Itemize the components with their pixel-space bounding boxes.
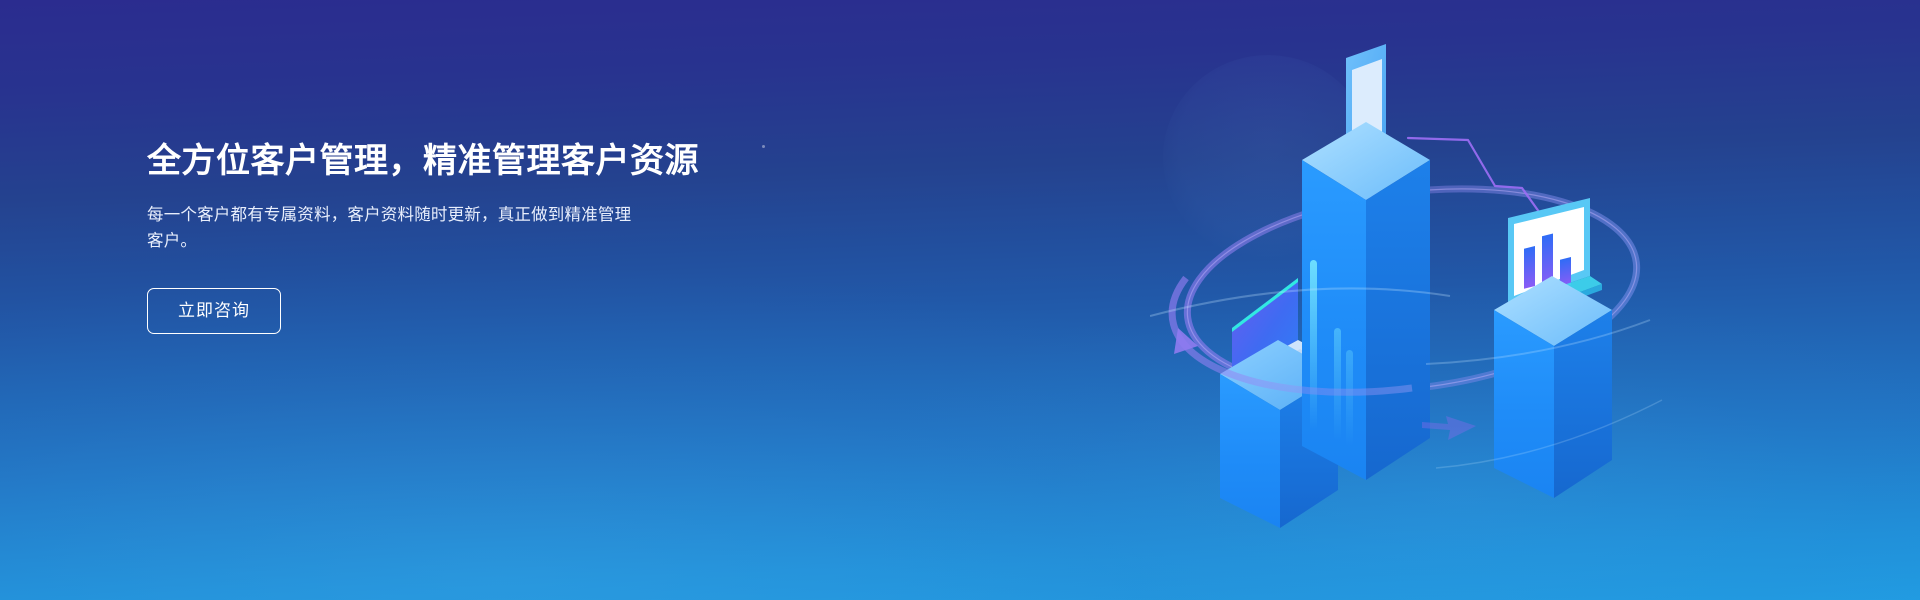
consult-now-button[interactable]: 立即咨询: [147, 288, 281, 334]
page-title: 全方位客户管理，精准管理客户资源: [147, 140, 767, 182]
orbit-arrow-right: [1422, 416, 1476, 440]
hero-banner: 全方位客户管理，精准管理客户资源 每一个客户都有专属资料，客户资料随时更新，真正…: [0, 0, 1920, 600]
hero-subtitle: 每一个客户都有专属资料，客户资料随时更新，真正做到精准管理客户。: [147, 202, 647, 254]
pillar-center: [1302, 44, 1430, 480]
pillar-center-side: [1366, 160, 1430, 480]
hero-copy-block: 全方位客户管理，精准管理客户资源 每一个客户都有专属资料，客户资料随时更新，真正…: [147, 140, 767, 334]
hero-illustration: [1150, 28, 1670, 588]
